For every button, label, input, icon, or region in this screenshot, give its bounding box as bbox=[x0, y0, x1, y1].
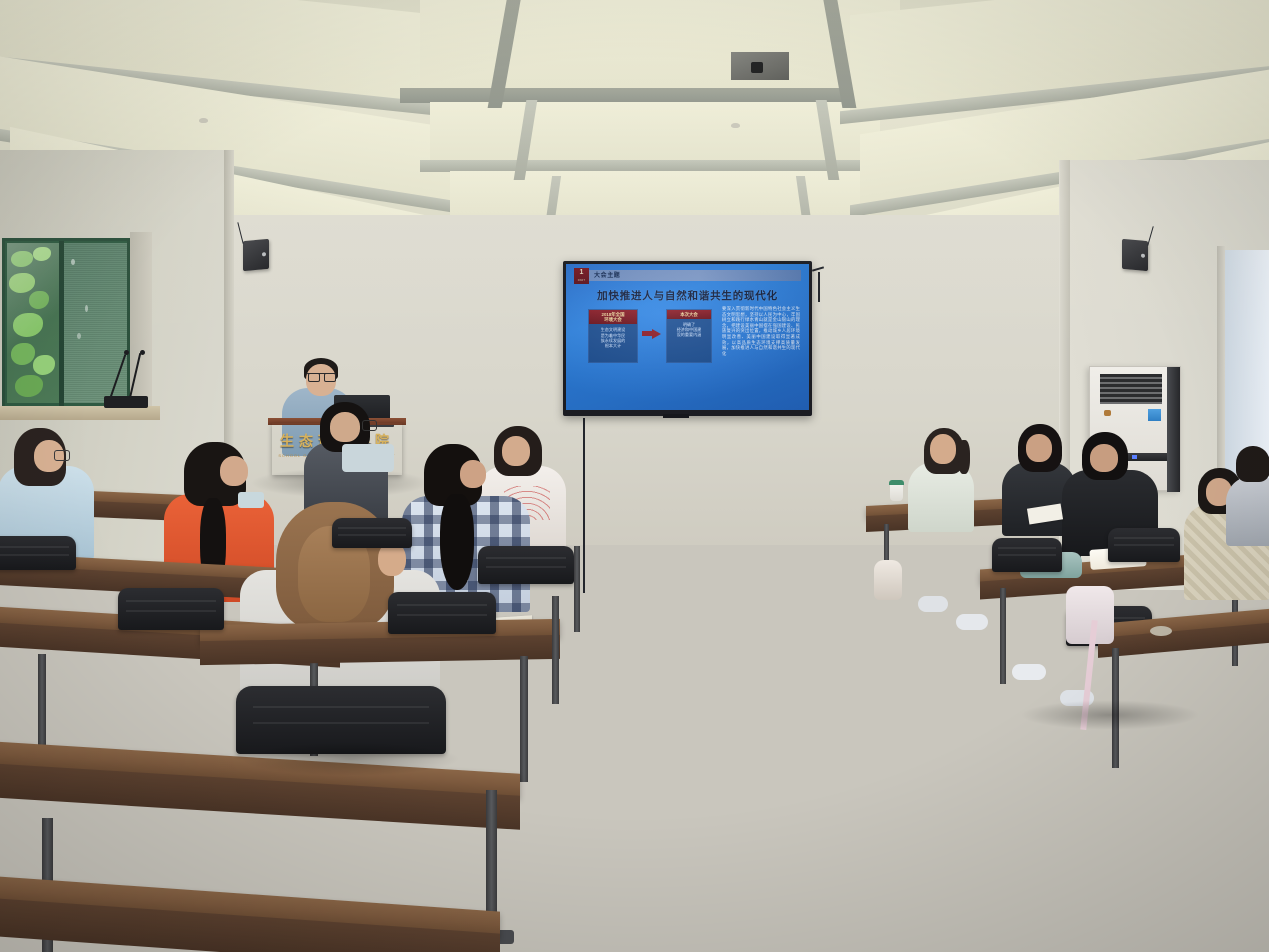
desk-leg bbox=[1000, 588, 1006, 684]
chair-left-5[interactable] bbox=[478, 546, 574, 584]
smoke-detector bbox=[199, 118, 208, 123]
attendee-head bbox=[1026, 434, 1052, 462]
chair-shadow-right bbox=[1020, 700, 1200, 730]
desk-leg bbox=[520, 656, 528, 782]
shoe bbox=[918, 596, 948, 612]
slide-arrow-stem bbox=[642, 331, 652, 336]
chair-left-1[interactable] bbox=[0, 536, 76, 570]
slide-arrow-icon bbox=[652, 329, 661, 339]
microphone-head-left bbox=[124, 350, 129, 355]
coffee-cup-lid bbox=[889, 480, 904, 485]
shoe bbox=[956, 614, 988, 630]
ac-grill bbox=[1100, 374, 1162, 404]
chair-shadow bbox=[240, 742, 460, 776]
wall-speaker-left bbox=[243, 239, 269, 271]
desk-leg bbox=[552, 596, 559, 704]
window-sill bbox=[0, 406, 160, 420]
attendee-glasses bbox=[54, 450, 70, 461]
slide-right-box-header: 本次大会 bbox=[667, 310, 711, 319]
eraser[interactable] bbox=[1150, 626, 1172, 636]
attendee-hair bbox=[1236, 446, 1269, 482]
wall-speaker-right bbox=[1122, 239, 1148, 271]
floor-bag-right[interactable] bbox=[874, 560, 902, 600]
ac-indicator-led bbox=[1132, 455, 1137, 459]
window-left[interactable] bbox=[2, 238, 130, 410]
projector-screen[interactable]: 1 PART 大会主题 加快推进人与自然和谐共生的现代化 2018年全国 环境大… bbox=[563, 261, 812, 416]
attendee-scarf bbox=[342, 444, 394, 472]
shoe bbox=[1012, 664, 1046, 680]
screen-power-cable-down bbox=[583, 418, 585, 593]
screen-mount bbox=[663, 414, 689, 418]
attendee-glasses bbox=[362, 420, 377, 431]
slide-canvas: 1 PART 大会主题 加快推进人与自然和谐共生的现代化 2018年全国 环境大… bbox=[566, 264, 809, 410]
attendee-head bbox=[220, 456, 248, 486]
slide-badge-sub: PART bbox=[574, 277, 589, 285]
attendee-body bbox=[1226, 476, 1269, 546]
classroom-scene: 1 PART 大会主题 加快推进人与自然和谐共生的现代化 2018年全国 环境大… bbox=[0, 0, 1269, 952]
chair-left-2[interactable] bbox=[118, 588, 224, 630]
slide-section-badge: 1 PART bbox=[574, 268, 589, 284]
desk-mid-front-left-apron bbox=[200, 635, 560, 665]
microphone-base bbox=[104, 396, 148, 408]
microphone-head-right bbox=[140, 350, 145, 355]
chair-right-2[interactable] bbox=[1108, 528, 1180, 562]
attendee-head bbox=[930, 434, 956, 464]
chair-left-6[interactable] bbox=[332, 518, 412, 548]
ac-energy-label bbox=[1148, 409, 1161, 421]
attendee-head bbox=[330, 412, 360, 442]
screen-power-cable bbox=[818, 272, 820, 302]
chair-right-1[interactable] bbox=[992, 538, 1062, 572]
slide-right-box: 本次大会 明确了 经济和中国建 设的重要内涵 bbox=[666, 309, 712, 363]
desk-leg bbox=[574, 546, 580, 632]
slide-left-box: 2018年全国 环境大会 生态文明建设 是为着中华民 族永续发展的 根本大计 bbox=[588, 309, 638, 363]
attendee-head bbox=[460, 460, 486, 488]
chair-left-4[interactable] bbox=[388, 592, 496, 634]
ac-sticker bbox=[1104, 410, 1111, 416]
slide-right-box-body: 明确了 经济和中国建 设的重要内涵 bbox=[667, 319, 711, 340]
attendee-collar bbox=[238, 492, 264, 508]
slide-topbar-label: 大会主题 bbox=[594, 270, 620, 279]
slide-badge-number: 1 bbox=[574, 269, 589, 277]
attendee-ponytail bbox=[958, 440, 970, 474]
ac-side-vent bbox=[1167, 367, 1180, 492]
slide-title: 加快推进人与自然和谐共生的现代化 bbox=[566, 288, 809, 303]
slide-paragraph: 要深入贯彻新时代中国特色社会主义生态文明思想，坚持以人民为中心，牢固树立和践行绿… bbox=[722, 306, 800, 356]
attendee-head bbox=[1090, 444, 1118, 472]
coffee-cup[interactable] bbox=[890, 483, 903, 501]
slide-left-box-body: 生态文明建设 是为着中华民 族永续发展的 根本大计 bbox=[589, 324, 637, 350]
attendee-ponytail bbox=[440, 494, 474, 590]
attendee-head bbox=[502, 436, 530, 466]
slide-left-box-header: 2018年全国 环境大会 bbox=[589, 310, 637, 324]
smoke-detector-secondary bbox=[731, 123, 740, 128]
